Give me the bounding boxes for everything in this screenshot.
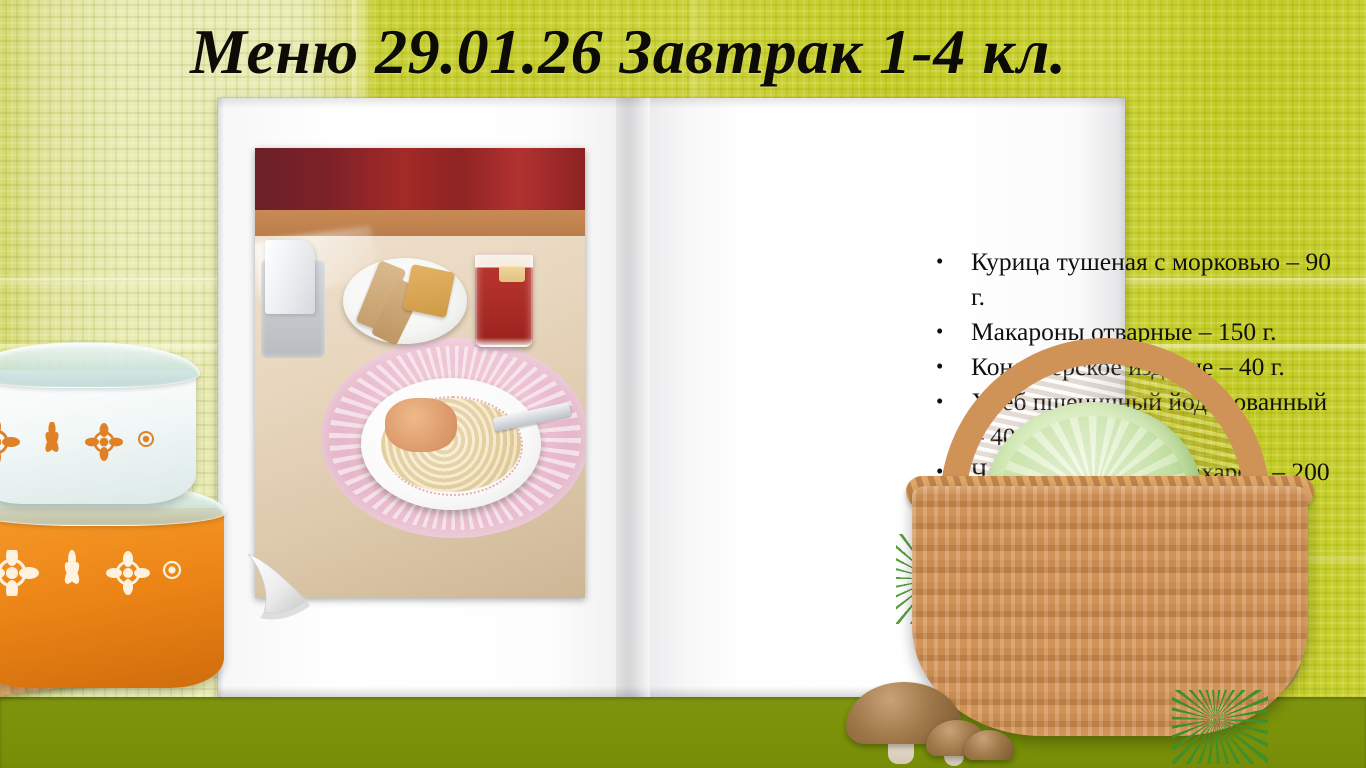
list-item: • Курица тушеная с морковью – 90 г. xyxy=(936,244,1336,314)
mushrooms-graphic xyxy=(840,674,1020,766)
slide-canvas: Меню 29.01.26 Завтрак 1-4 кл. xyxy=(0,0,1366,768)
menu-item-label: Курица тушеная с морковью – 90 г. xyxy=(971,244,1336,314)
parsley-sprig-icon xyxy=(1172,690,1268,764)
orange-casserole xyxy=(0,508,224,688)
photo-stewed-chicken xyxy=(385,398,457,452)
orange-flower-pattern-icon xyxy=(0,422,184,462)
book-spine xyxy=(616,98,650,698)
page-title: Меню 29.01.26 Завтрак 1-4 кл. xyxy=(190,14,1190,90)
book-top-shadow xyxy=(218,98,1125,108)
bullet-icon: • xyxy=(936,244,971,279)
breakfast-photo xyxy=(255,148,585,598)
photo-biscuit xyxy=(403,264,456,318)
mushroom-cap xyxy=(964,730,1014,760)
white-casserole xyxy=(0,370,196,504)
vegetable-basket-graphic xyxy=(902,338,1366,768)
casserole-dishes-graphic xyxy=(0,330,254,730)
photo-lemon-slice xyxy=(499,266,525,282)
white-flower-pattern-icon xyxy=(0,550,212,596)
white-casserole-lid xyxy=(0,342,200,388)
photo-napkin xyxy=(265,240,315,314)
